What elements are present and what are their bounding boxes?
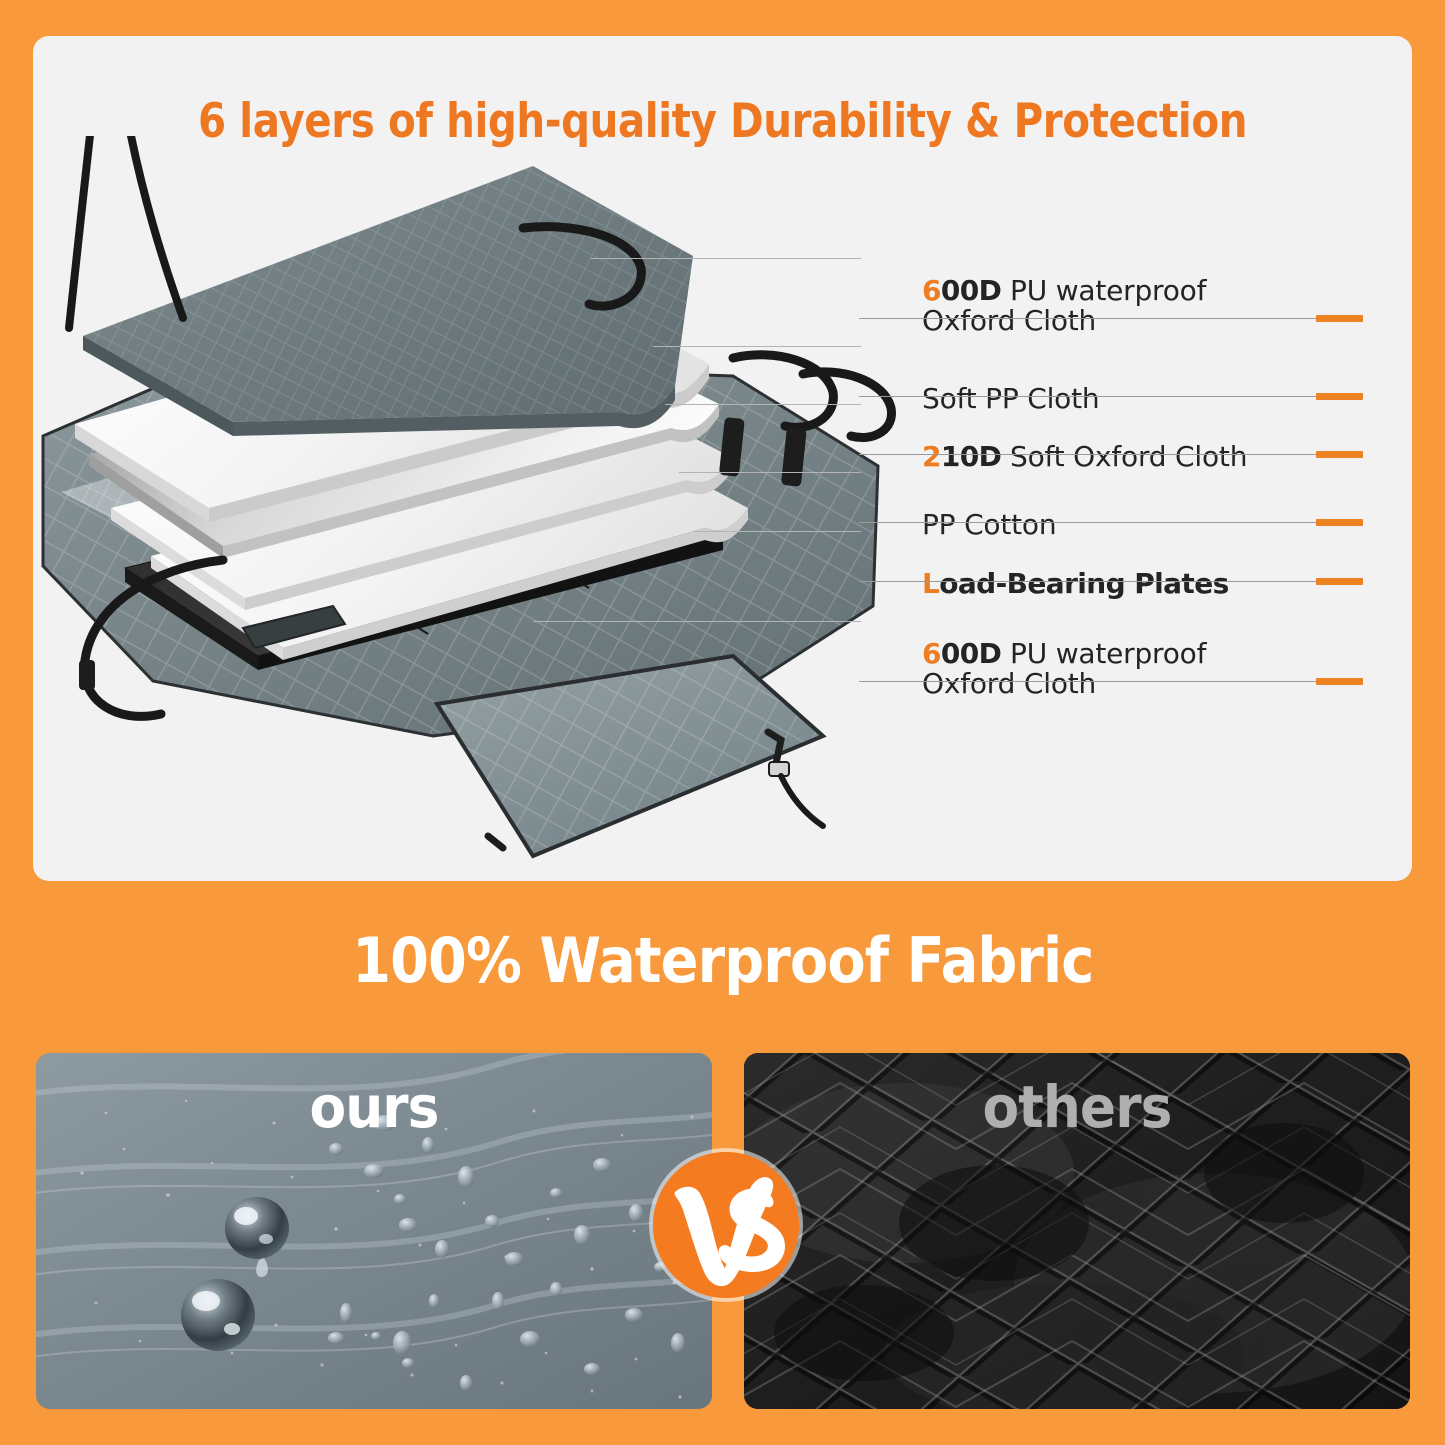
banner-headline: 100% Waterproof Fabric xyxy=(352,924,1093,997)
callout-lead: 10D xyxy=(941,440,1001,473)
callout-dash xyxy=(1316,519,1363,526)
callout-rule xyxy=(859,454,1316,455)
vs-badge-icon xyxy=(653,1152,799,1298)
label-others: others xyxy=(771,1073,1384,1141)
callout-list: 600D PU waterproof Oxford Cloth Soft PP … xyxy=(859,186,1412,786)
hero-card: 6 layers of high-quality Durability & Pr… xyxy=(33,36,1412,881)
callout-rule xyxy=(859,681,1316,682)
callout-accent-char: 6 xyxy=(922,274,941,307)
callout-dash xyxy=(1316,678,1363,685)
callout-rule xyxy=(859,318,1316,319)
callout-lead: 00D xyxy=(941,637,1001,670)
leader-line xyxy=(665,404,861,405)
leader-line xyxy=(653,346,861,347)
callout-accent-char: 2 xyxy=(922,440,941,473)
label-ours: ours xyxy=(63,1073,685,1141)
callout-rest: Soft Oxford Cloth xyxy=(1001,440,1247,473)
comparison-panel-others: others xyxy=(744,1053,1410,1409)
callout-rule xyxy=(859,581,1316,582)
callout-rest: Soft PP Cloth xyxy=(922,382,1099,415)
leader-line xyxy=(533,621,861,622)
callout-accent-char: L xyxy=(922,567,939,600)
callout-dash xyxy=(1316,578,1363,585)
waterproof-banner: 100% Waterproof Fabric xyxy=(0,900,1445,1020)
callout-label: 600D PU waterproof Oxford Cloth xyxy=(922,246,1206,337)
callout-lead: 00D xyxy=(941,274,1001,307)
callout-label: Soft PP Cloth xyxy=(922,354,1099,414)
callout-rest: oad-Bearing Plates xyxy=(939,567,1228,600)
callout-accent-char: 6 xyxy=(922,637,941,670)
product-illustration xyxy=(33,136,913,881)
callout-label: Load-Bearing Plates xyxy=(922,539,1229,599)
callout-label: 600D PU waterproof Oxford Cloth xyxy=(922,609,1206,700)
leader-line xyxy=(591,258,861,259)
leader-line xyxy=(679,472,861,473)
callout-rest: PP Cotton xyxy=(922,508,1056,541)
callout-dash xyxy=(1316,451,1363,458)
callout-label: PP Cotton xyxy=(922,480,1056,540)
comparison-panel-ours: ours xyxy=(36,1053,712,1409)
callout-dash xyxy=(1316,315,1363,322)
callout-rule xyxy=(859,522,1316,523)
infographic-page: 6 layers of high-quality Durability & Pr… xyxy=(0,0,1445,1445)
callout-rule xyxy=(859,396,1316,397)
callout-label: 210D Soft Oxford Cloth xyxy=(922,412,1247,472)
callout-dash xyxy=(1316,393,1363,400)
leader-line xyxy=(693,531,861,532)
